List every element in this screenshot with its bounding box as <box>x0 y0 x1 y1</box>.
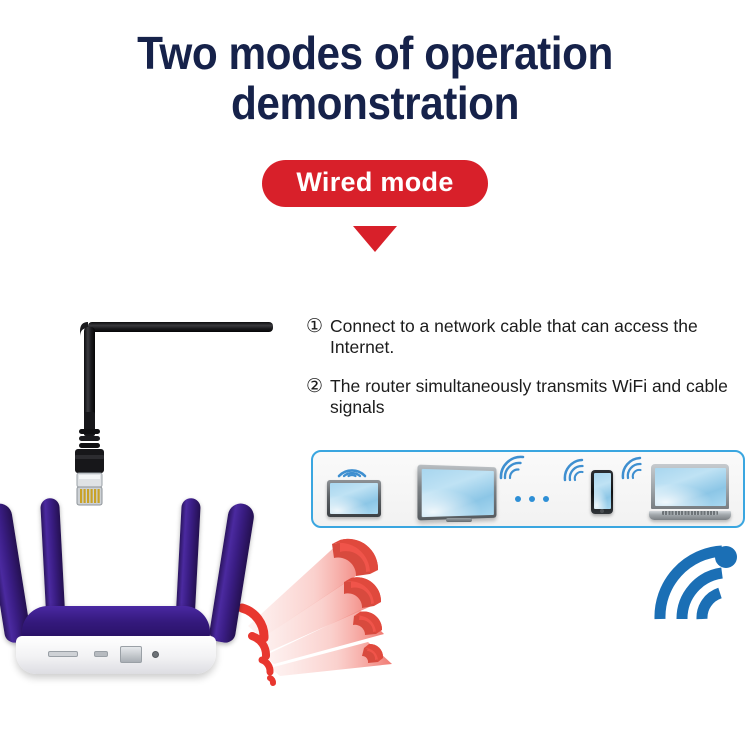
instruction-list: ① Connect to a network cable that can ac… <box>306 316 736 436</box>
page-title: Two modes of operation demonstration <box>30 28 720 128</box>
wifi-icon <box>648 527 744 623</box>
phone-icon <box>591 470 613 514</box>
connected-devices-panel <box>311 450 745 528</box>
poster-canvas: Two modes of operation demonstration Wir… <box>0 0 750 750</box>
list-item: ① Connect to a network cable that can ac… <box>306 316 736 358</box>
rj45-port <box>120 646 142 663</box>
wifi-arcs-icon <box>499 454 531 480</box>
wifi-arcs-icon <box>563 458 591 482</box>
three-dots-icon <box>515 496 549 502</box>
tv-stand <box>446 518 472 522</box>
tablet-icon <box>327 480 381 517</box>
wifi-arcs-icon <box>621 456 649 480</box>
step-number-icon: ① <box>306 316 323 358</box>
badge-arrow-container <box>0 226 750 257</box>
step-text: The router simultaneously transmits WiFi… <box>330 376 736 418</box>
triangle-down-icon <box>353 226 397 252</box>
red-signal-waves <box>236 534 426 694</box>
usb-port <box>94 651 108 657</box>
mode-badge-container: Wired mode <box>0 160 750 207</box>
router-antenna <box>208 502 256 644</box>
step-text: Connect to a network cable that can acce… <box>330 316 736 358</box>
list-item: ② The router simultaneously transmits Wi… <box>306 376 736 418</box>
wireless-router <box>0 486 264 716</box>
page-title-line-2: demonstration <box>30 78 720 128</box>
step-number-icon: ② <box>306 376 323 418</box>
wired-mode-badge[interactable]: Wired mode <box>262 160 487 207</box>
page-title-line-1: Two modes of operation <box>30 28 720 78</box>
router-base-shell <box>16 636 216 674</box>
wifi-arcs-icon <box>335 456 369 480</box>
sim-slot <box>48 651 78 657</box>
tv-icon <box>417 465 496 521</box>
reset-button <box>152 651 159 658</box>
laptop-icon <box>649 464 731 520</box>
